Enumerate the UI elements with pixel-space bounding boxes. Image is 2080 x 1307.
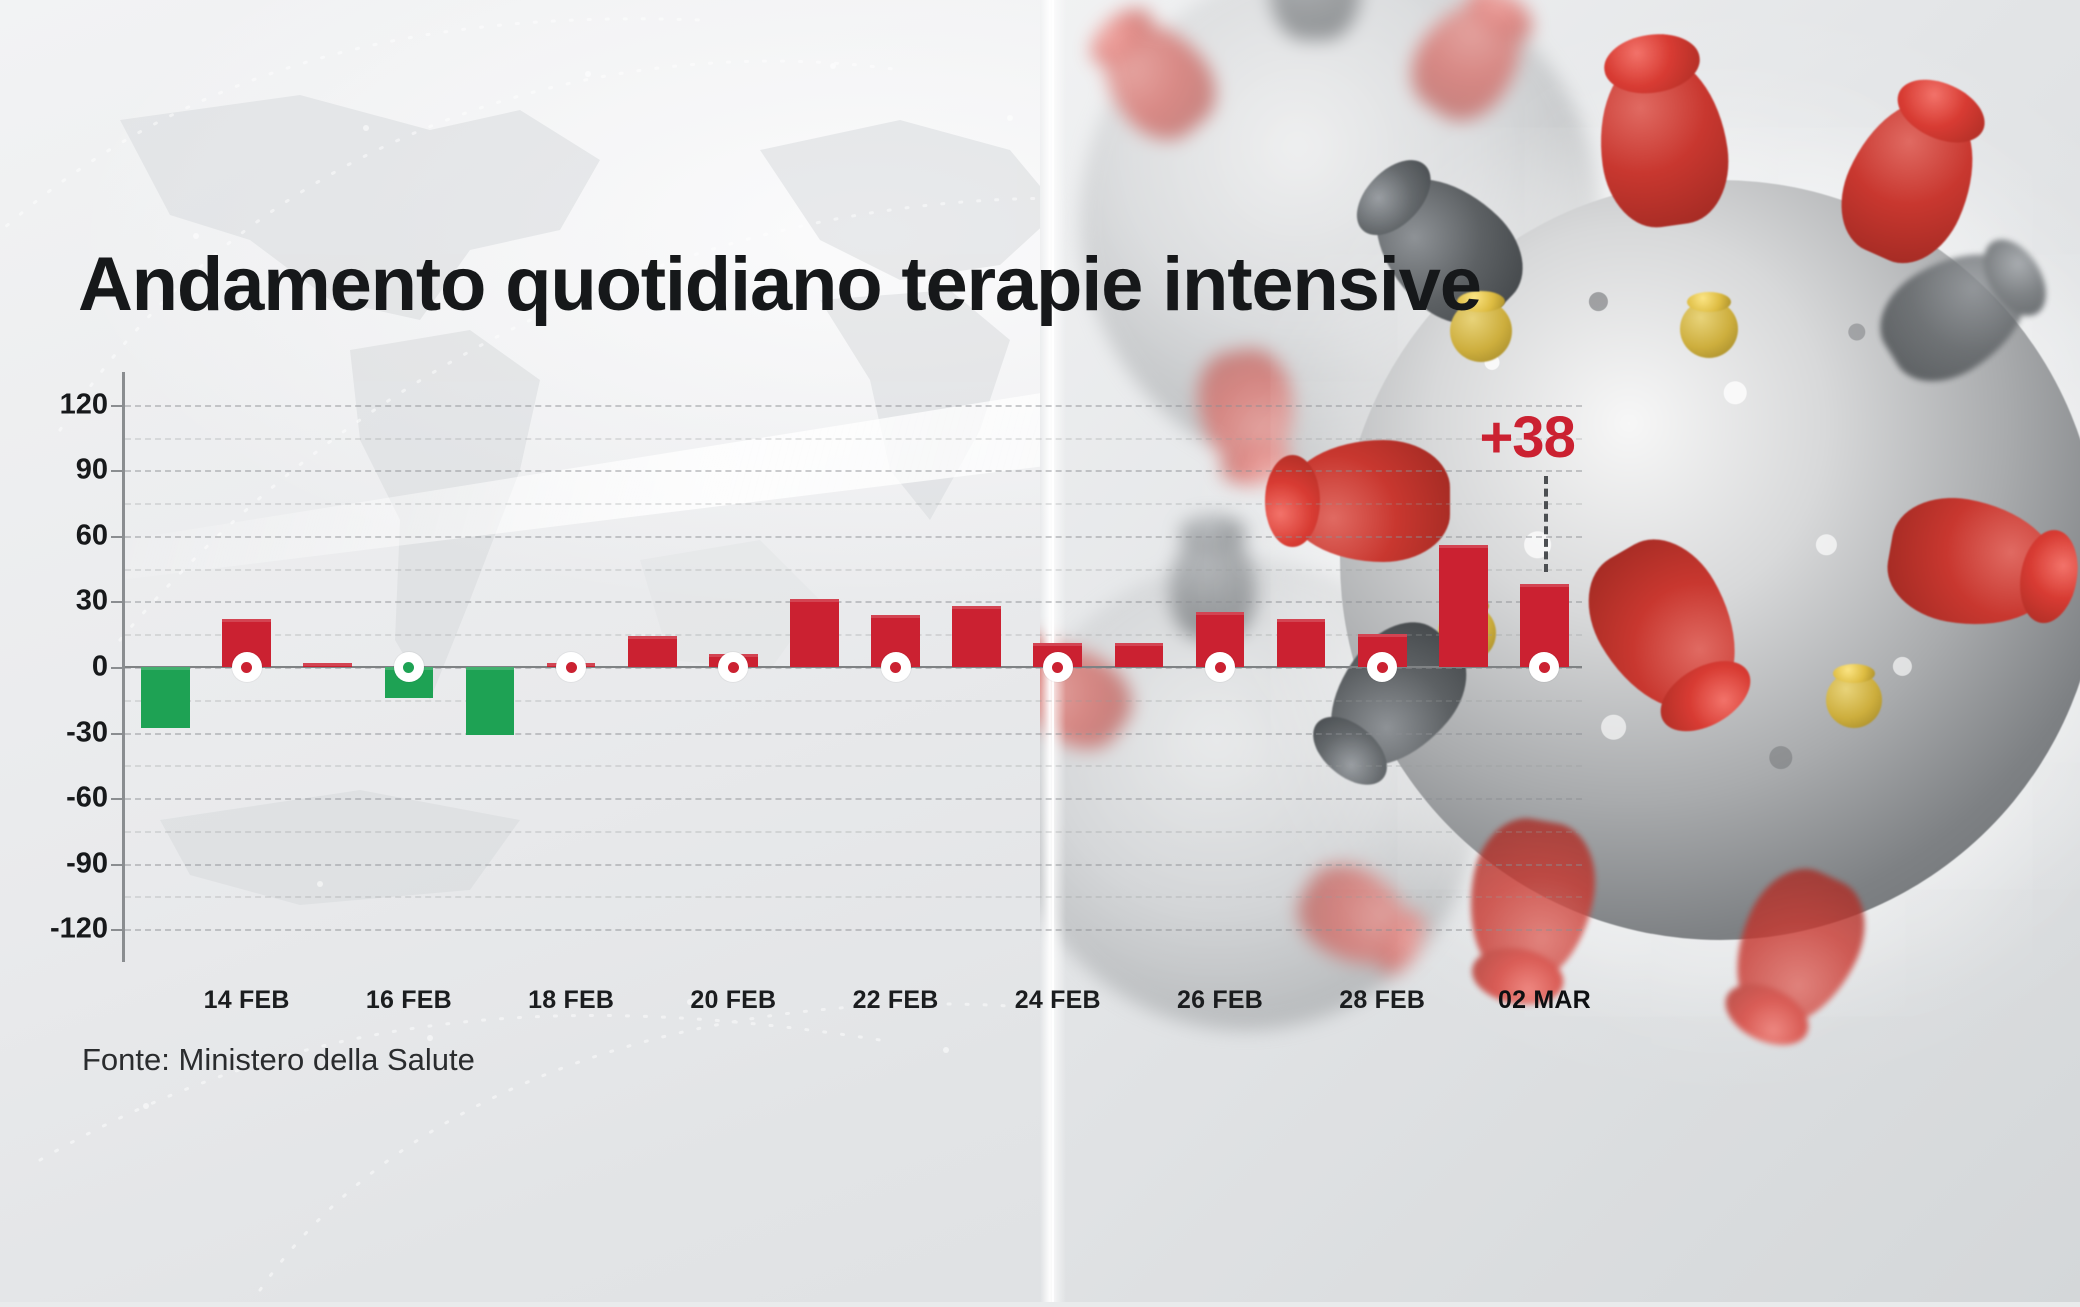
y-axis-tick-label: -60 [66, 782, 108, 815]
bar-highlight [1277, 619, 1326, 622]
bar-13-feb[interactable] [141, 667, 190, 728]
bar-highlight [1033, 643, 1082, 646]
y-axis-tick-label: -30 [66, 716, 108, 749]
bar-highlight [1358, 634, 1407, 637]
source-note: Fonte: Ministero della Salute [82, 1042, 475, 1078]
y-axis-tick [111, 798, 125, 800]
bar-highlight [1520, 584, 1569, 587]
callout-value-label: +38 [1479, 404, 1574, 471]
y-axis-tick [111, 470, 125, 472]
axis-marker[interactable] [1043, 652, 1073, 682]
axis-marker-dot [728, 662, 739, 673]
x-axis-labels: 14 FEB16 FEB18 FEB20 FEB22 FEB24 FEB26 F… [122, 986, 1582, 1026]
bar-21-feb[interactable] [790, 599, 839, 667]
axis-marker[interactable] [1205, 652, 1235, 682]
bar-highlight [871, 615, 920, 618]
axis-marker[interactable] [556, 652, 586, 682]
y-axis-tick-label: 0 [92, 651, 108, 684]
axis-marker-dot [566, 662, 577, 673]
y-axis-tick-label: -120 [50, 913, 108, 946]
bar-27-feb[interactable] [1277, 619, 1326, 667]
axis-marker-dot [403, 662, 414, 673]
bar-23-feb[interactable] [952, 606, 1001, 667]
y-axis-tick-label: 120 [60, 388, 108, 421]
bars-group [125, 372, 1582, 962]
bar-highlight [466, 667, 515, 670]
bar-highlight [1439, 545, 1488, 548]
axis-marker-dot [1215, 662, 1226, 673]
bar-highlight [790, 599, 839, 602]
axis-marker-dot [241, 662, 252, 673]
bar-19-feb[interactable] [628, 636, 677, 667]
axis-marker[interactable] [394, 652, 424, 682]
bar-highlight [628, 636, 677, 639]
axis-marker[interactable] [718, 652, 748, 682]
y-axis-tick-label: -90 [66, 847, 108, 880]
x-axis-tick-label: 28 FEB [1339, 986, 1425, 1015]
x-axis-tick-label: 02 MAR [1498, 986, 1591, 1015]
y-axis-tick [111, 601, 125, 603]
bar-15-feb[interactable] [303, 663, 352, 667]
y-axis-tick [111, 405, 125, 407]
axis-marker[interactable] [881, 652, 911, 682]
bar-chart-plot [122, 372, 1582, 962]
axis-marker-dot [890, 662, 901, 673]
axis-marker[interactable] [1529, 652, 1559, 682]
x-axis-tick-label: 20 FEB [690, 986, 776, 1015]
bar-25-feb[interactable] [1115, 643, 1164, 667]
bar-highlight [303, 663, 352, 666]
bar-highlight [1196, 612, 1245, 615]
page-title: Andamento quotidiano terapie intensive [78, 247, 1481, 323]
chart-content: Andamento quotidiano terapie intensive 1… [0, 0, 2080, 1302]
x-axis-tick-label: 16 FEB [366, 986, 452, 1015]
axis-marker[interactable] [1367, 652, 1397, 682]
bar-01-mar[interactable] [1439, 545, 1488, 667]
x-axis-tick-label: 18 FEB [528, 986, 614, 1015]
x-axis-tick-label: 26 FEB [1177, 986, 1263, 1015]
y-axis-tick [111, 667, 125, 669]
x-axis-tick-label: 22 FEB [853, 986, 939, 1015]
y-axis-tick [111, 929, 125, 931]
y-axis-tick [111, 864, 125, 866]
x-axis-tick-label: 24 FEB [1015, 986, 1101, 1015]
bar-highlight [222, 619, 271, 622]
bar-17-feb[interactable] [466, 667, 515, 735]
bar-highlight [1115, 643, 1164, 646]
callout-leader-line [1544, 476, 1548, 572]
y-axis-tick-label: 60 [76, 519, 108, 552]
axis-marker-dot [1539, 662, 1550, 673]
y-axis-tick-label: 30 [76, 585, 108, 618]
x-axis-tick-label: 14 FEB [204, 986, 290, 1015]
y-axis-tick [111, 536, 125, 538]
y-axis-tick [111, 733, 125, 735]
axis-marker[interactable] [232, 652, 262, 682]
bar-highlight [952, 606, 1001, 609]
axis-marker-dot [1052, 662, 1063, 673]
bar-highlight [141, 667, 190, 670]
y-axis-tick-label: 90 [76, 454, 108, 487]
axis-marker-dot [1377, 662, 1388, 673]
